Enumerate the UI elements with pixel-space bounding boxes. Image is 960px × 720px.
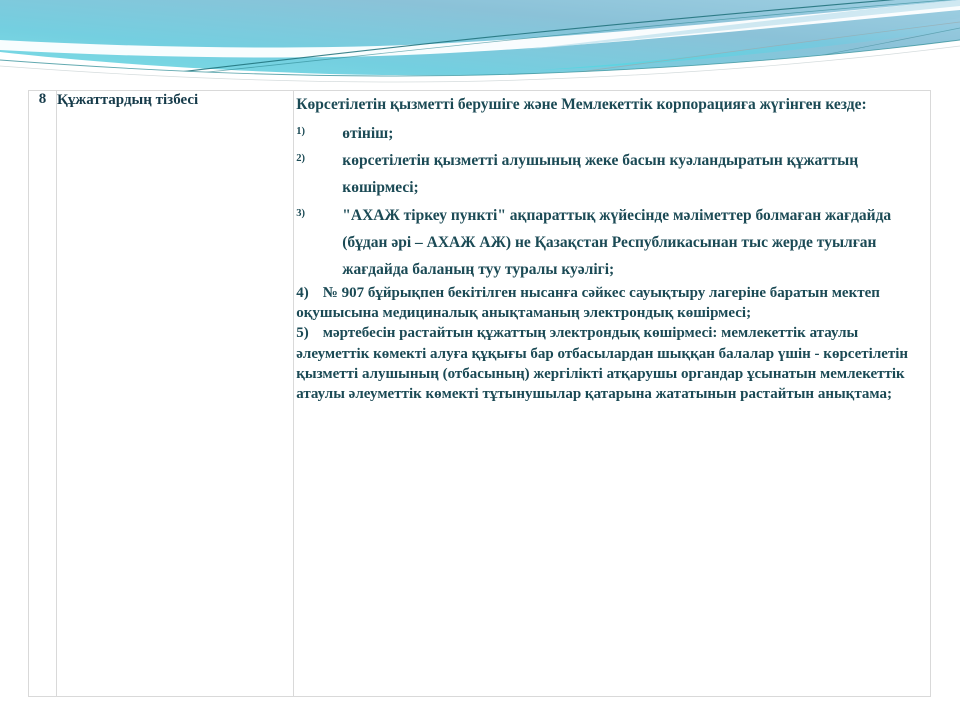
list-item: 2) көрсетілетін қызметті алушының жеке б… xyxy=(294,147,930,201)
list-item-text: өтініш; xyxy=(342,125,393,142)
body-intro-text: Көрсетілетін қызметті берушіге және Мемл… xyxy=(294,91,930,118)
document-table: 8 Құжаттардың тізбесі Көрсетілетін қызме… xyxy=(28,90,931,697)
slide-root: 8 Құжаттардың тізбесі Көрсетілетін қызме… xyxy=(0,0,960,720)
list-item-marker: 2) xyxy=(296,150,305,168)
row-body-cell: Көрсетілетін қызметті берушіге және Мемл… xyxy=(294,91,931,697)
list-item-text: көрсетілетін қызметті алушының жеке басы… xyxy=(342,152,858,196)
decorative-wave-banner xyxy=(0,0,960,92)
document-list: 1) өтініш; 2) көрсетілетін қызметті алуш… xyxy=(294,120,930,283)
paragraph-4-text: № 907 бұйрықпен бекітілген нысанға сәйке… xyxy=(296,285,880,321)
list-item: 3) "АХАЖ тіркеу пункті" ақпараттық жүйес… xyxy=(294,202,930,283)
paragraph-5-marker: 5) xyxy=(296,325,309,341)
row-number-cell: 8 xyxy=(29,91,57,697)
document-paragraph-5: 5)мәртебесін растайтын құжаттың электрон… xyxy=(294,323,930,404)
list-item-marker: 1) xyxy=(296,123,305,141)
document-paragraph-4: 4)№ 907 бұйрықпен бекітілген нысанға сәй… xyxy=(294,283,930,324)
list-item: 1) өтініш; xyxy=(294,120,930,147)
paragraph-4-marker: 4) xyxy=(296,285,309,301)
row-label-cell: Құжаттардың тізбесі xyxy=(57,91,294,697)
table-row: 8 Құжаттардың тізбесі Көрсетілетін қызме… xyxy=(29,91,931,697)
list-item-marker: 3) xyxy=(296,205,305,223)
paragraph-5-text: мәртебесін растайтын құжаттың электронды… xyxy=(296,325,908,402)
list-item-text: "АХАЖ тіркеу пункті" ақпараттық жүйесінд… xyxy=(342,207,891,278)
